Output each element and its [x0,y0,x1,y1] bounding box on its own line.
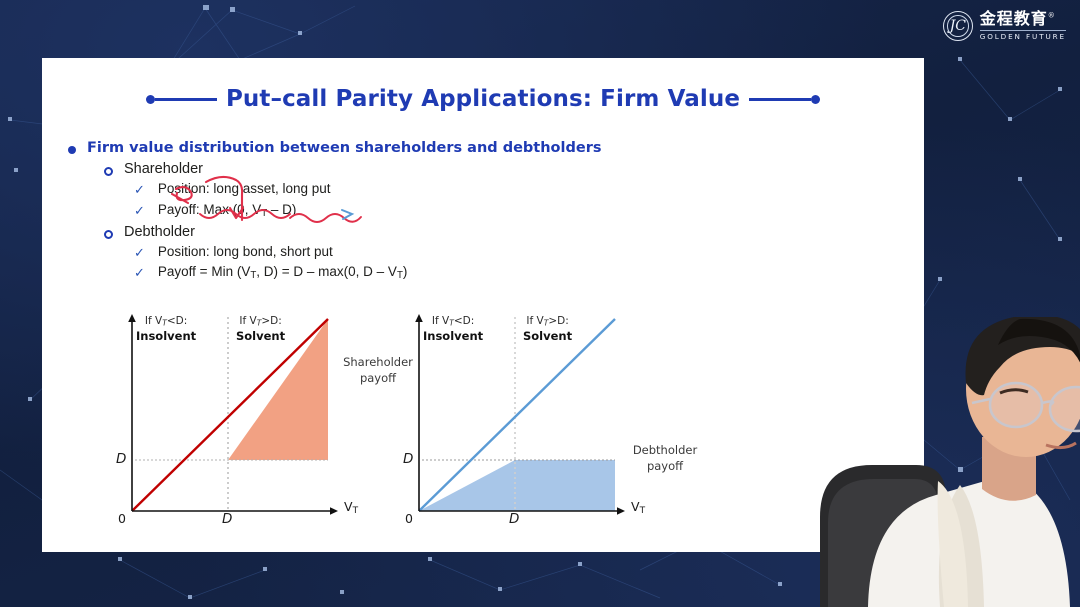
x-axis-label-sub: T [353,506,359,516]
x-axis-arrow-icon [617,507,625,515]
brand-logo: JC 金程教育® GOLDEN FUTURE [943,11,1066,41]
title-bar-right-icon [749,98,811,101]
x-axis-arrow-icon [330,507,338,515]
shareholder-label: Shareholder [124,161,203,177]
seal-glyph: JC [944,12,972,40]
title-dot-right-icon [811,95,820,104]
solvent-region-label: If VT>D: Solvent [236,315,285,345]
solvent-region-label: If VT>D: Solvent [523,315,572,345]
origin-label: 0 [405,511,413,526]
bullet-level3-shareholder-position: ✓ Position: long asset, long put [42,181,924,198]
debtholder-label: Debtholder [124,224,195,240]
y-tick-D: D [403,451,413,467]
chart-debtholder-payoff: If VT<D: Insolvent If VT>D: Solvent Debt… [397,313,717,533]
debtholder-payoff-a: Payoff = Min (V [158,264,250,279]
insolvent-if-tail: <D: [167,315,187,327]
x-tick-D: D [509,511,519,527]
solvent-if-text: If V [526,315,543,327]
bullet-ring-icon [104,230,113,239]
logo-text: 金程教育® GOLDEN FUTURE [980,11,1066,40]
insolvent-region-label: If VT<D: Insolvent [423,315,483,345]
shareholder-payoff: Payoff: Max (0, VT – D) [158,202,297,219]
insolvent-if-tail: <D: [454,315,474,327]
x-tick-D: D [222,511,232,527]
bullet-level3-debtholder-position: ✓ Position: long bond, short put [42,244,924,261]
origin-label: 0 [118,511,126,526]
shareholder-payoff-line2: payoff [360,371,396,385]
solvent-if-tail: >D: [261,315,281,327]
debtholder-payoff-c: ) [403,264,408,279]
title-decoration-left [146,95,217,104]
slide-title-row: Put–call Parity Applications: Firm Value [42,86,924,112]
debtholder-payoff: Payoff = Min (VT, D) = D – max(0, D – VT… [158,264,407,281]
y-axis-arrow-icon [128,314,136,322]
debtholder-payoff-annotation: Debtholder payoff [619,443,711,474]
debtholder-payoff-line2: payoff [647,459,683,473]
golden-future-seal-icon: JC [943,11,973,41]
presentation-slide: Put–call Parity Applications: Firm Value… [42,58,924,552]
check-icon: ✓ [134,182,145,198]
debtholder-position: Position: long bond, short put [158,244,333,259]
check-icon: ✓ [134,203,145,219]
x-axis-label: VT [631,499,645,516]
presenter-video-overlay [810,317,1080,607]
bullet-level3-debtholder-payoff: ✓ Payoff = Min (VT, D) = D – max(0, D – … [42,264,924,281]
check-icon: ✓ [134,245,145,261]
x-axis-label-v: V [344,499,353,514]
logo-name-cn: 金程教育® [980,11,1066,27]
debtholder-payoff-line1: Debtholder [633,443,697,457]
debtholder-chart-svg [397,313,717,533]
solvent-text: Solvent [523,329,572,343]
shareholder-chart-svg [110,313,430,533]
charts-container: If VT<D: Insolvent If VT>D: Solvent Shar… [42,313,924,533]
debtholder-payoff-area-right [515,460,615,511]
bullet-level2-debtholder: Debtholder [42,224,924,240]
title-bar-left-icon [155,98,217,101]
x-axis-label: VT [344,499,358,516]
y-axis-arrow-icon [415,314,423,322]
bullet-dot-icon [68,146,76,154]
logo-name-en: GOLDEN FUTURE [980,30,1066,40]
registered-mark: ® [1048,12,1056,20]
slide-body: Firm value distribution between sharehol… [42,140,924,281]
title-dot-left-icon [146,95,155,104]
title-decoration-right [749,95,820,104]
solvent-if-tail: >D: [548,315,568,327]
debtholder-payoff-area-left [419,460,515,511]
page-title: Put–call Parity Applications: Firm Value [217,86,749,112]
bullet-ring-icon [104,167,113,176]
x-axis-label-sub: T [640,506,646,516]
insolvent-text: Insolvent [136,329,196,343]
chart-shareholder-payoff: If VT<D: Insolvent If VT>D: Solvent Shar… [110,313,430,533]
bullet-level1-label: Firm value distribution between sharehol… [87,140,601,156]
insolvent-region-label: If VT<D: Insolvent [136,315,196,345]
solvent-text: Solvent [236,329,285,343]
y-tick-D: D [116,451,126,467]
insolvent-text: Insolvent [423,329,483,343]
bullet-level3-shareholder-payoff: ✓ Payoff: Max (0, VT – D) [42,202,924,219]
shareholder-payoff-tail: – D) [267,202,296,217]
shareholder-payoff-head: Payoff: Max (0, V [158,202,261,217]
debtholder-payoff-b: , D) = D – max(0, D – V [256,264,397,279]
insolvent-if-text: If V [432,315,449,327]
shareholder-position: Position: long asset, long put [158,181,331,196]
bullet-level1-firm-value: Firm value distribution between sharehol… [42,140,924,156]
x-axis-label-v: V [631,499,640,514]
solvent-if-text: If V [239,315,256,327]
bullet-level2-shareholder: Shareholder [42,161,924,177]
check-icon: ✓ [134,265,145,281]
presenter-figure [810,317,1080,607]
insolvent-if-text: If V [145,315,162,327]
